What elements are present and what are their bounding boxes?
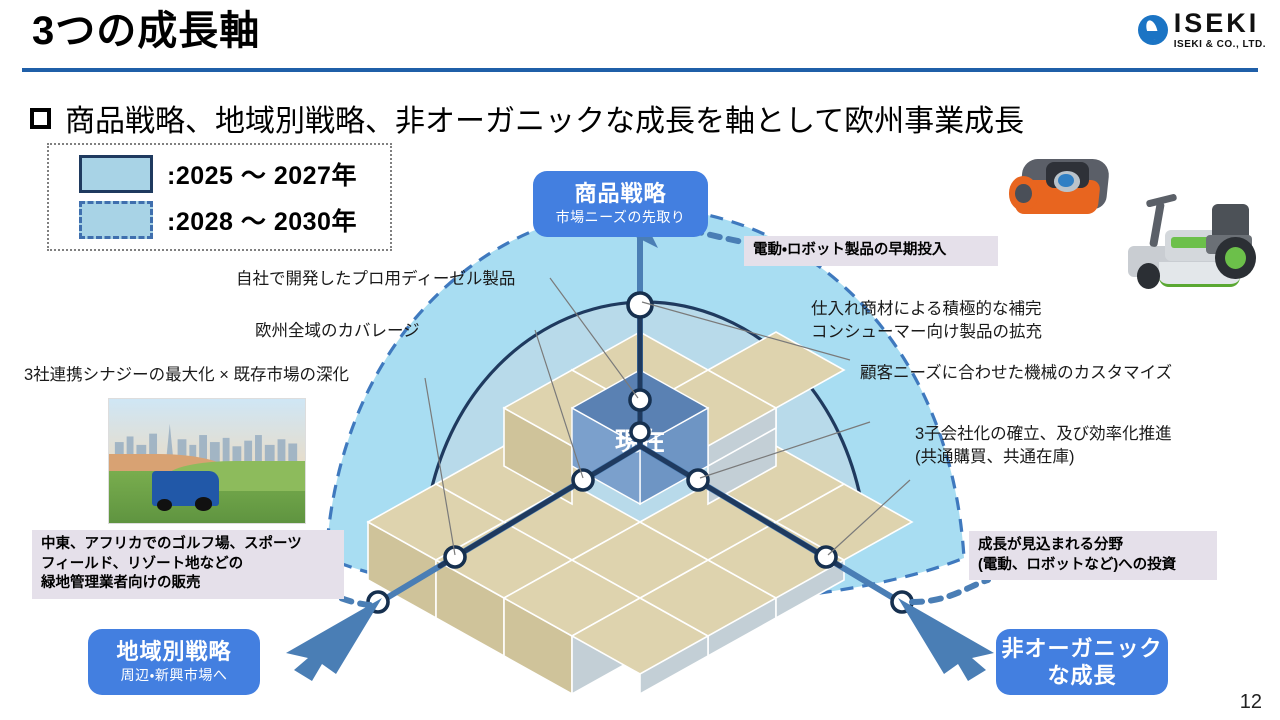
annotation-synergy: 3社連携シナジーの最大化 × 既存市場の深化 xyxy=(24,364,349,387)
header-divider xyxy=(22,68,1258,72)
annotation-custom: 顧客ニーズに合わせた機械のカスタマイズ xyxy=(860,362,1172,385)
zero-turn-ride-on-mower-photo xyxy=(1112,178,1268,296)
page-number: 12 xyxy=(1240,691,1262,714)
logo-name: ISEKI xyxy=(1174,10,1266,37)
arrow-nonorganic xyxy=(898,598,994,681)
bullet-text: 商品戦略、地域別戦略、非オーガニックな成長を軸として欧州事業成長 xyxy=(65,96,1024,140)
node-regional-2 xyxy=(445,547,465,567)
slide: 3つの成長軸 ISEKI ISEKI & CO., LTD. 商品戦略、地域別戦… xyxy=(0,0,1280,720)
arrow-regional xyxy=(286,598,382,681)
callout-regional: 中東、アフリカでのゴルフ場、スポーツ フィールド、リゾート地などの 緑地管理業者… xyxy=(32,530,344,599)
strategy-box-regional[interactable]: 地域別戦略 周辺・新興市場へ xyxy=(88,629,260,695)
node-regional-1 xyxy=(573,470,593,490)
golf-course-mower-photo xyxy=(108,398,306,524)
robotic-mower-photo xyxy=(1004,140,1122,226)
strategy-title-nonorganic: 非オーガニック な成長 xyxy=(1001,635,1162,690)
company-logo: ISEKI ISEKI & CO., LTD. xyxy=(1138,10,1266,50)
legend-swatch-dashed xyxy=(79,201,153,239)
strategy-subtitle-product: 市場ニーズの先取り xyxy=(556,210,686,225)
callout-nonorganic: 成長が見込まれる分野 (電動、ロボットなど)への投資 xyxy=(969,531,1217,580)
strategy-box-nonorganic[interactable]: 非オーガニック な成長 xyxy=(996,629,1168,695)
annotation-supply: 仕入れ商材による積極的な補完 コンシューマー向け製品の拡充 xyxy=(811,298,1042,344)
annotation-subsidiary: 3子会社化の確立、及び効率化推進 (共通購買、共通在庫) xyxy=(915,423,1172,469)
strategy-subtitle-regional: 周辺・新興市場へ xyxy=(121,668,228,683)
node-product-2 xyxy=(630,390,650,410)
strategy-title-regional: 地域別戦略 xyxy=(116,640,231,664)
annotation-coverage: 欧州全域のカバレージ xyxy=(255,320,420,343)
annotation-diesel: 自社で開発したプロ用ディーゼル製品 xyxy=(236,268,515,291)
node-nonorganic-1 xyxy=(688,470,708,490)
iseki-emblem-icon xyxy=(1138,15,1168,45)
node-product-1 xyxy=(631,423,649,441)
callout-product: 電動・ロボット製品の早期投入 xyxy=(744,236,998,266)
square-outline-icon xyxy=(30,108,51,129)
bullet-line: 商品戦略、地域別戦略、非オーガニックな成長を軸として欧州事業成長 xyxy=(30,96,1024,140)
logo-subtitle: ISEKI & CO., LTD. xyxy=(1174,40,1266,50)
strategy-title-product: 商品戦略 xyxy=(574,182,666,206)
node-product-3 xyxy=(628,293,652,317)
legend-swatch-solid xyxy=(79,155,153,193)
page-title: 3つの成長軸 xyxy=(32,8,260,54)
strategy-box-product[interactable]: 商品戦略 市場ニーズの先取り xyxy=(533,171,708,237)
